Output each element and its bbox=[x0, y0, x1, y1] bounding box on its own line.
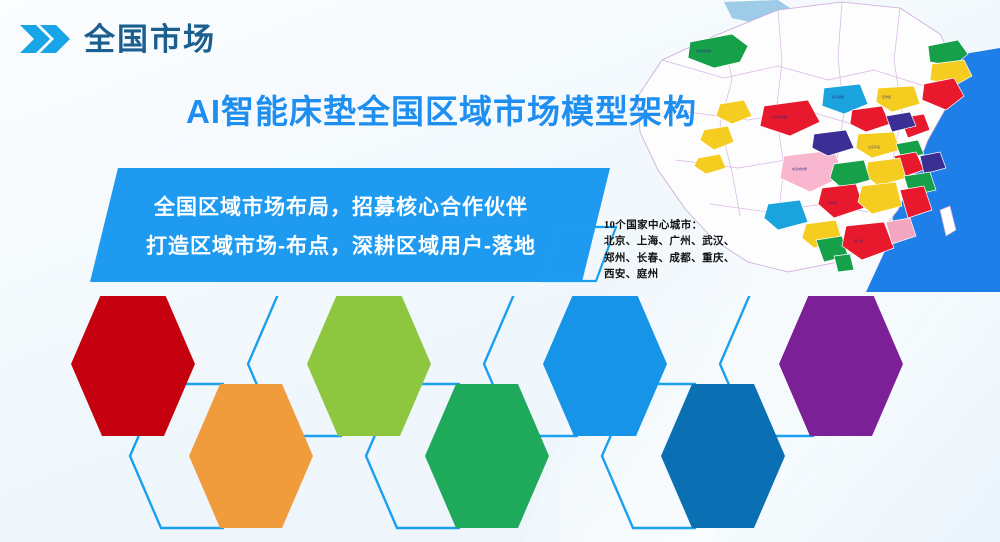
svg-text:哈长城市群: 哈长城市群 bbox=[696, 48, 711, 53]
slide-canvas: 哈长城市群 呼包鄂榆 京津冀 天山城市群 成渝城市群 山东半岛 长株潭 珠三角 … bbox=[0, 0, 1000, 542]
hexagon-national-outlets[interactable] bbox=[543, 296, 667, 436]
map-caption: 10个国家中心城市： 北京、上海、广州、武汉、 郑州、长春、成都、重庆、 西安、… bbox=[604, 218, 735, 283]
banner-line-2: 打造区域市场-布点，深耕区域用户-落地 bbox=[146, 230, 536, 260]
svg-text:天山城市群: 天山城市群 bbox=[772, 114, 787, 119]
double-chevron-right-icon bbox=[18, 22, 70, 56]
banner-text: 全国区域市场布局，招募核心合作伙伴 打造区域市场-布点，深耕区域用户-落地 bbox=[90, 168, 610, 282]
hexagon-prefecture-cities[interactable] bbox=[307, 296, 431, 436]
page-title: AI智能床垫全国区域市场模型架构 bbox=[186, 92, 697, 132]
hexagon-users[interactable] bbox=[779, 296, 903, 436]
svg-text:呼包鄂榆: 呼包鄂榆 bbox=[832, 94, 844, 99]
banner-line-1: 全国区域市场布局，招募核心合作伙伴 bbox=[154, 191, 528, 221]
map-caption-line-1: 10个国家中心城市： bbox=[604, 218, 735, 234]
header-title: 全国市场 bbox=[84, 24, 216, 55]
map-caption-line-4: 西安、庭州 bbox=[604, 267, 735, 283]
hexagon-ai-makers[interactable] bbox=[661, 384, 785, 528]
slide-header: 全国市场 bbox=[18, 22, 216, 56]
map-caption-line-2: 北京、上海、广州、武汉、 bbox=[604, 234, 735, 250]
hexagon-flow bbox=[0, 296, 1000, 542]
hexagon-districts-counties[interactable] bbox=[425, 384, 549, 528]
hexagon-national-region-market[interactable] bbox=[71, 296, 195, 436]
headline-banner: 全国区域市场布局，招募核心合作伙伴 打造区域市场-布点，深耕区域用户-落地 bbox=[90, 168, 610, 282]
hexagon-provinces[interactable] bbox=[189, 384, 313, 528]
svg-text:京津冀: 京津冀 bbox=[882, 94, 891, 99]
svg-text:长株潭: 长株潭 bbox=[828, 200, 837, 205]
svg-text:山东半岛: 山东半岛 bbox=[868, 144, 880, 149]
map-caption-line-3: 郑州、长春、成都、重庆、 bbox=[604, 251, 735, 267]
svg-text:成渝城市群: 成渝城市群 bbox=[792, 166, 807, 171]
svg-text:珠三角: 珠三角 bbox=[854, 238, 863, 243]
